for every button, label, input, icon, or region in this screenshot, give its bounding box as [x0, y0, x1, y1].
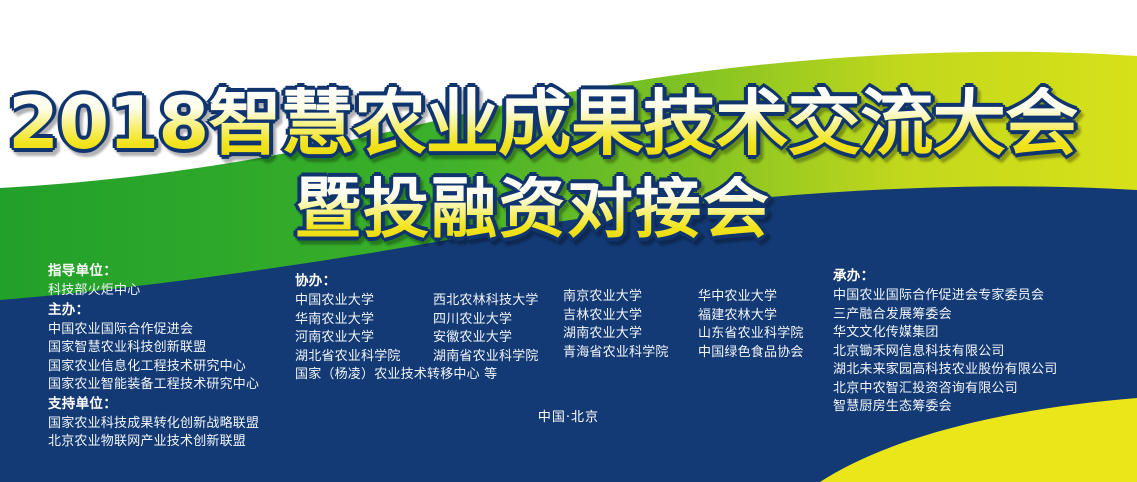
- list-item: 安徽农业大学: [433, 329, 512, 348]
- column-co-organizers-continued: 南京农业大学 华中农业大学 吉林农业大学 福建农林大学 湖南农业大学 山东省农业…: [563, 288, 828, 362]
- list-item: 国家农业智能装备工程技术研究中心: [48, 376, 308, 395]
- list-item: 科技部火炬中心: [48, 282, 308, 301]
- list-item: 吉林农业大学: [563, 307, 698, 326]
- list-item: 中国农业大学: [295, 292, 433, 311]
- list-item: 北京中农智汇投资咨询有限公司: [833, 380, 1093, 399]
- heading-host: 主办：: [48, 301, 308, 320]
- column-co-organizers: 协办： 中国农业大学 西北农林科技大学 华南农业大学 四川农业大学 河南农业大学…: [295, 272, 565, 385]
- list-item: 中国农业国际合作促进会专家委员会: [833, 287, 1093, 306]
- list-item: 西北农林科技大学: [433, 292, 539, 311]
- list-item: 国家智慧农业科技创新联盟: [48, 339, 308, 358]
- list-row: 湖南农业大学 山东省农业科学院: [563, 325, 828, 344]
- list-row: 中国农业大学 西北农林科技大学: [295, 292, 565, 311]
- list-item: 华文文化传媒集团: [833, 324, 1093, 343]
- list-item: 湖南农业大学: [563, 325, 698, 344]
- list-item: 中国农业国际合作促进会: [48, 321, 308, 340]
- list-item: 中国绿色食品协会: [698, 344, 804, 363]
- heading-co-organizer: 协办：: [295, 272, 565, 291]
- list-row: 湖北省农业科学院 湖南省农业科学院: [295, 348, 565, 367]
- heading-guidance-unit: 指导单位：: [48, 262, 308, 281]
- column-undertakers: 承办： 中国农业国际合作促进会专家委员会 三产融合发展筹委会 华文文化传媒集团 …: [833, 267, 1093, 417]
- list-item: 北京锄禾网信息科技有限公司: [833, 343, 1093, 362]
- list-row: 河南农业大学 安徽农业大学: [295, 329, 565, 348]
- list-row: 青海省农业科学院 中国绿色食品协会: [563, 344, 828, 363]
- list-item: 福建农林大学: [698, 307, 777, 326]
- list-item: 河南农业大学: [295, 329, 433, 348]
- list-item: 华南农业大学: [295, 311, 433, 330]
- list-item: 北京农业物联网产业技术创新联盟: [48, 433, 308, 452]
- list-row: 南京农业大学 华中农业大学: [563, 288, 828, 307]
- list-item: 国家（杨凌）农业技术转移中心 等: [295, 366, 433, 385]
- event-poster: 2018智慧农业成果技术交流大会 暨投融资对接会 指导单位： 科技部火炬中心 主…: [0, 0, 1137, 482]
- list-item: 华中农业大学: [698, 288, 777, 307]
- list-item: 湖北未来家园高科技农业股份有限公司: [833, 361, 1093, 380]
- list-item: 四川农业大学: [433, 311, 512, 330]
- heading-undertaker: 承办：: [833, 267, 1093, 286]
- list-item: 湖南省农业科学院: [433, 348, 539, 367]
- list-row: 吉林农业大学 福建农林大学: [563, 307, 828, 326]
- list-item: 湖北省农业科学院: [295, 348, 433, 367]
- list-item: 山东省农业科学院: [698, 325, 804, 344]
- event-location: 中国·北京: [0, 406, 1137, 425]
- list-item: 南京农业大学: [563, 288, 698, 307]
- list-item: 国家农业信息化工程技术研究中心: [48, 358, 308, 377]
- list-row: 国家（杨凌）农业技术转移中心 等: [295, 366, 565, 385]
- list-item: 三产融合发展筹委会: [833, 306, 1093, 325]
- list-row: 华南农业大学 四川农业大学: [295, 311, 565, 330]
- list-item: 青海省农业科学院: [563, 344, 698, 363]
